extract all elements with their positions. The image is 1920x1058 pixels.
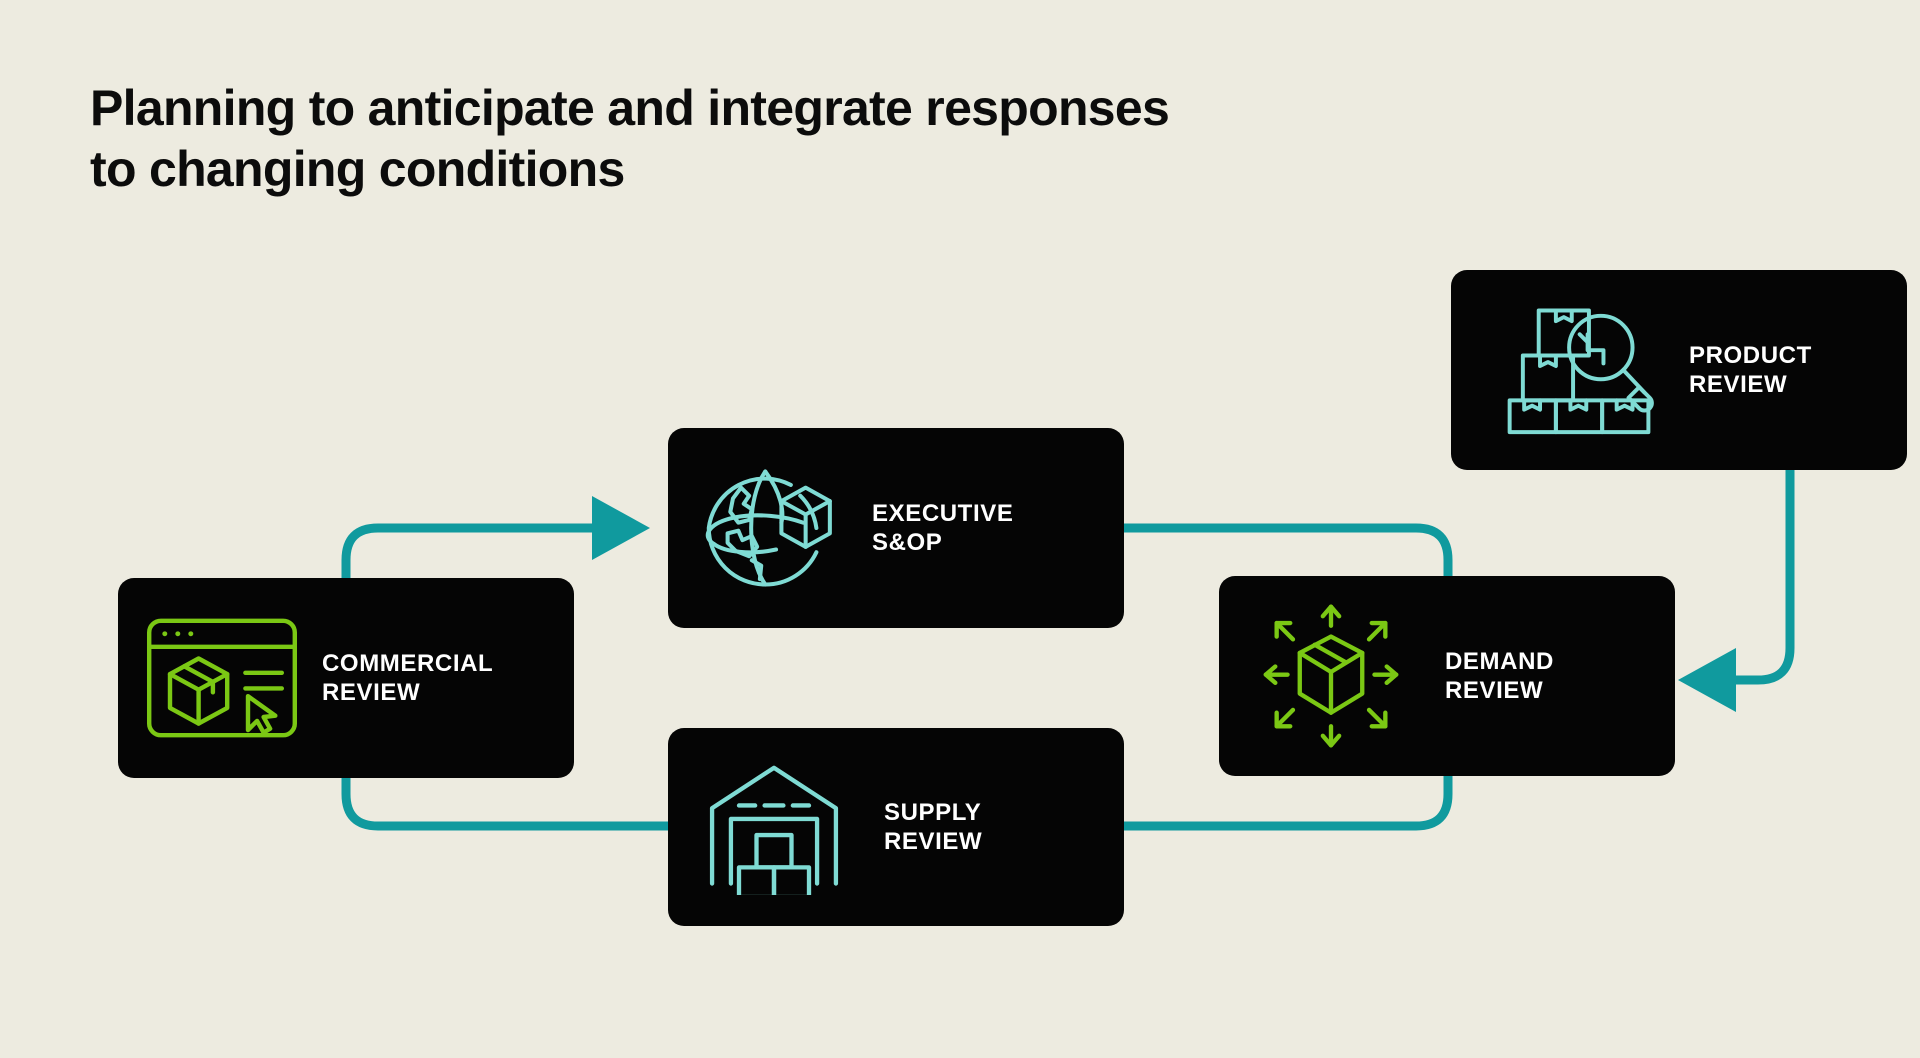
diagram-canvas: Planning to anticipate and integrate res… — [0, 0, 1920, 1058]
warehouse-boxes-icon — [704, 759, 844, 895]
connector-executive-to-demand — [1124, 528, 1448, 576]
node-supply-review[interactable]: SUPPLY REVIEW — [668, 728, 1124, 926]
box-expanding-arrows-icon — [1257, 604, 1405, 748]
stacked-boxes-magnifier-icon — [1507, 305, 1655, 435]
node-label: DEMAND REVIEW — [1445, 647, 1554, 706]
node-label: SUPPLY REVIEW — [884, 798, 982, 857]
node-executive-sop[interactable]: EXECUTIVE S&OP — [668, 428, 1124, 628]
connector-commercial-to-executive — [346, 496, 650, 578]
node-label: PRODUCT REVIEW — [1689, 341, 1812, 400]
browser-window-box-cursor-icon — [144, 613, 300, 743]
node-label: EXECUTIVE S&OP — [872, 499, 1013, 558]
connector-supply-to-demand — [1124, 776, 1448, 826]
node-label: COMMERCIAL REVIEW — [322, 649, 493, 708]
node-product-review[interactable]: PRODUCT REVIEW — [1451, 270, 1907, 470]
connector-commercial-to-supply — [346, 778, 668, 826]
node-commercial-review[interactable]: COMMERCIAL REVIEW — [118, 578, 574, 778]
globe-box-icon — [698, 458, 846, 598]
node-demand-review[interactable]: DEMAND REVIEW — [1219, 576, 1675, 776]
connector-product-to-demand — [1678, 470, 1790, 712]
